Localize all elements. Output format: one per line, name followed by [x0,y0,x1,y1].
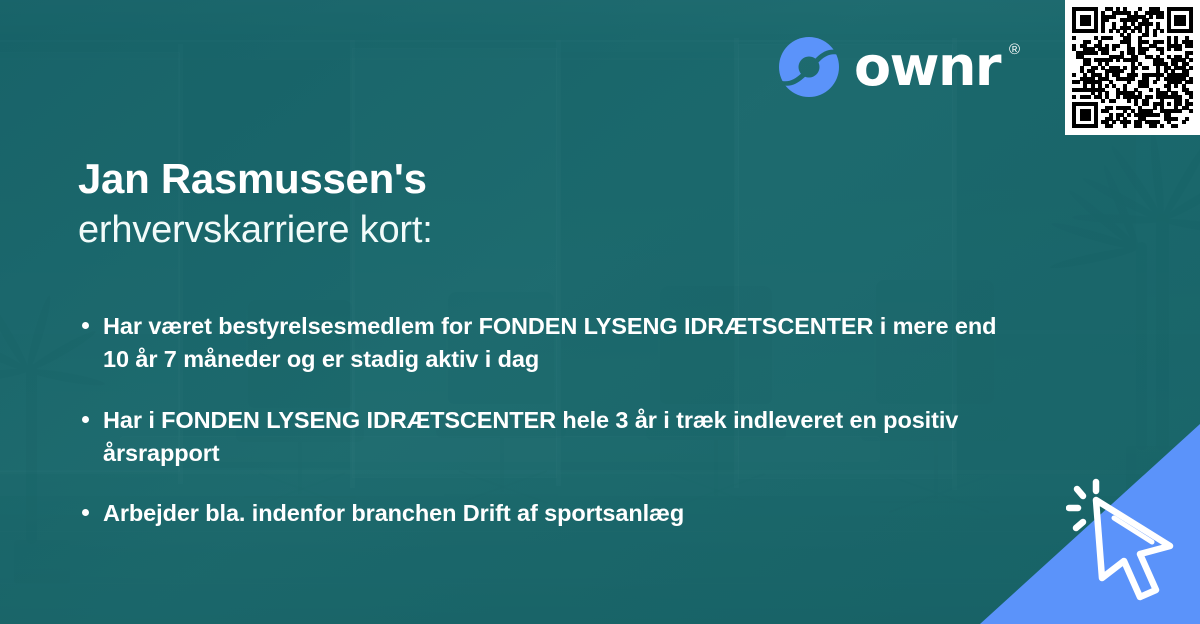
career-highlights-list: Har været bestyrelsesmedlem for FONDEN L… [78,310,1018,531]
registered-trademark-icon: ® [1009,42,1020,57]
qr-code-image [1065,0,1200,135]
bullet-dot-icon [82,322,89,329]
headline-subtitle: erhvervskarriere kort: [78,209,978,253]
list-item: Har været bestyrelsesmedlem for FONDEN L… [78,310,1018,377]
bullet-dot-icon [82,416,89,423]
page-title: Jan Rasmussen's erhvervskarriere kort: [78,156,978,253]
headline-name: Jan Rasmussen's [78,156,978,201]
ownr-logo[interactable]: ownr ® [778,36,1000,98]
qr-code[interactable] [1065,0,1200,135]
list-item-text: Har i FONDEN LYSENG IDRÆTSCENTER hele 3 … [103,407,958,466]
list-item-text: Arbejder bla. indenfor branchen Drift af… [103,500,684,526]
bullet-dot-icon [82,509,89,516]
list-item: Har i FONDEN LYSENG IDRÆTSCENTER hele 3 … [78,404,1018,471]
career-card: ownr ® Jan Rasmussen's erhvervskarriere … [0,0,1200,624]
ownr-wordmark-text: ownr [854,35,1000,98]
list-item: Arbejder bla. indenfor branchen Drift af… [78,497,1018,530]
ownr-circle-swoosh-icon [778,36,840,98]
ownr-wordmark: ownr ® [854,40,1000,94]
list-item-text: Har været bestyrelsesmedlem for FONDEN L… [103,313,996,372]
click-cursor-icon [1066,478,1194,606]
